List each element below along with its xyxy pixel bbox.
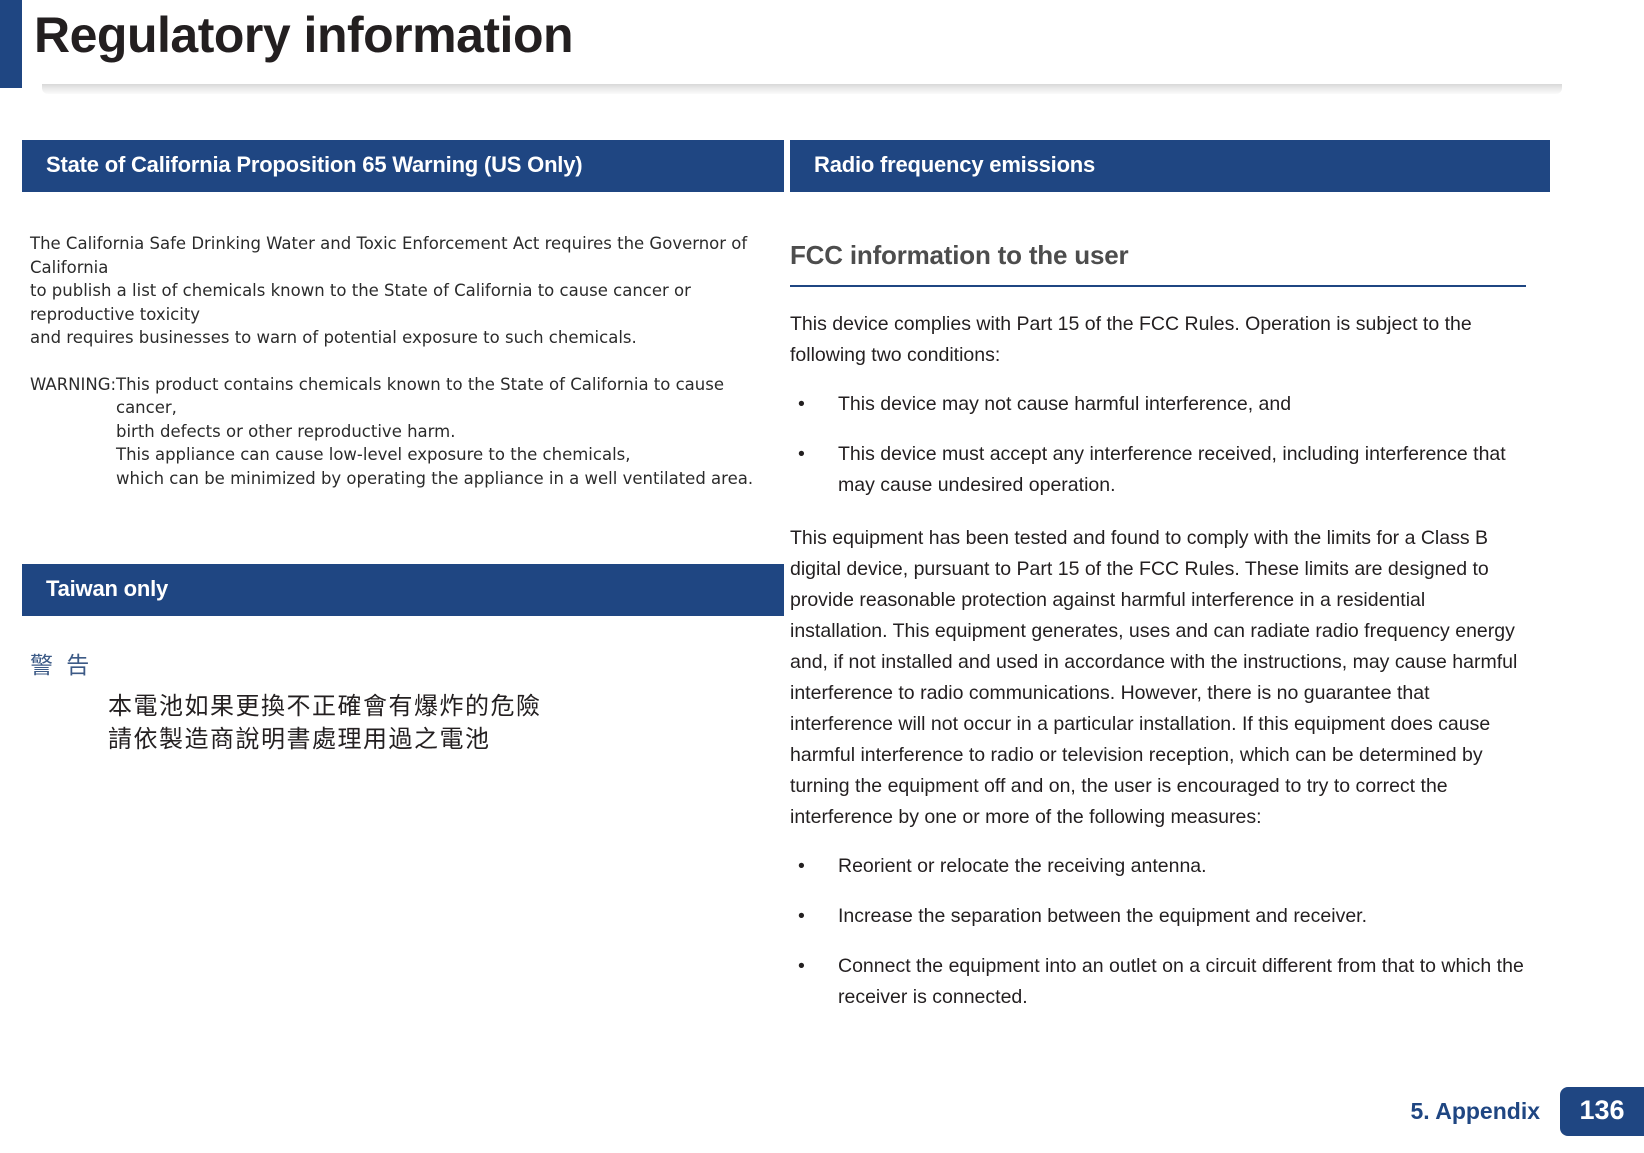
left-column: State of California Proposition 65 Warni… xyxy=(22,140,784,756)
bullet-icon: • xyxy=(798,439,805,470)
bullet-icon: • xyxy=(798,851,805,882)
taiwan-body: 本電池如果更換不正確會有爆炸的危險 請依製造商說明書處理用過之電池 xyxy=(108,690,784,756)
fcc-main-paragraph: This equipment has been tested and found… xyxy=(790,523,1526,833)
page-number-badge: 136 xyxy=(1560,1087,1644,1136)
subsection-title-fcc: FCC information to the user xyxy=(790,240,1550,271)
taiwan-warning-label: 警 告 xyxy=(30,652,784,680)
spacer xyxy=(30,350,784,373)
list-item-label: Increase the separation between the equi… xyxy=(838,905,1367,927)
page-title: Regulatory information xyxy=(34,6,573,64)
title-divider xyxy=(42,84,1562,94)
taiwan-body-line: 請依製造商說明書處理用過之電池 xyxy=(108,723,784,756)
prop65-warning-line: birth defects or other reproductive harm… xyxy=(116,420,784,444)
list-item: • Connect the equipment into an outlet o… xyxy=(790,951,1526,1013)
list-item: • Reorient or relocate the receiving ant… xyxy=(790,851,1526,882)
page-header: Regulatory information xyxy=(0,0,1644,92)
prop65-warning-line: This appliance can cause low-level expos… xyxy=(116,443,784,467)
prop65-warning-line: This product contains chemicals known to… xyxy=(116,373,784,420)
prop65-warning-label: WARNING: xyxy=(30,373,116,491)
title-accent-bar xyxy=(0,0,22,88)
section-header-taiwan: Taiwan only xyxy=(22,564,784,616)
prop65-intro-line: to publish a list of chemicals known to … xyxy=(30,279,784,326)
prop65-intro-line: and requires businesses to warn of poten… xyxy=(30,326,784,350)
bullet-icon: • xyxy=(798,389,805,420)
list-item: • This device may not cause harmful inte… xyxy=(790,389,1526,420)
subsection-divider xyxy=(790,285,1526,287)
bullet-icon: • xyxy=(798,951,805,982)
taiwan-section: Taiwan only 警 告 本電池如果更換不正確會有爆炸的危險 請依製造商說… xyxy=(22,564,784,756)
list-item: • Increase the separation between the eq… xyxy=(790,901,1526,932)
fcc-measures-list: • Reorient or relocate the receiving ant… xyxy=(790,851,1526,1013)
prop65-warning: WARNING: This product contains chemicals… xyxy=(30,373,784,491)
prop65-warning-lines: This product contains chemicals known to… xyxy=(116,373,784,491)
page-footer: 5. Appendix 136 xyxy=(1411,1087,1644,1136)
prop65-text-block: The California Safe Drinking Water and T… xyxy=(22,232,784,490)
prop65-intro-line: The California Safe Drinking Water and T… xyxy=(30,232,784,279)
list-item-label: Reorient or relocate the receiving anten… xyxy=(838,855,1207,877)
fcc-conditions-list: • This device may not cause harmful inte… xyxy=(790,389,1526,501)
taiwan-body-line: 本電池如果更換不正確會有爆炸的危險 xyxy=(108,690,784,723)
section-header-radio-frequency: Radio frequency emissions xyxy=(790,140,1550,192)
fcc-intro-paragraph: This device complies with Part 15 of the… xyxy=(790,309,1526,371)
list-item: • This device must accept any interferen… xyxy=(790,439,1526,501)
list-item-label: This device may not cause harmful interf… xyxy=(838,393,1291,415)
footer-section-label: 5. Appendix xyxy=(1411,1098,1541,1125)
right-column: Radio frequency emissions FCC informatio… xyxy=(790,140,1550,1032)
bullet-icon: • xyxy=(798,901,805,932)
list-item-label: Connect the equipment into an outlet on … xyxy=(838,955,1524,1008)
prop65-warning-line: which can be minimized by operating the … xyxy=(116,467,784,491)
list-item-label: This device must accept any interference… xyxy=(838,443,1506,496)
section-header-prop65: State of California Proposition 65 Warni… xyxy=(22,140,784,192)
